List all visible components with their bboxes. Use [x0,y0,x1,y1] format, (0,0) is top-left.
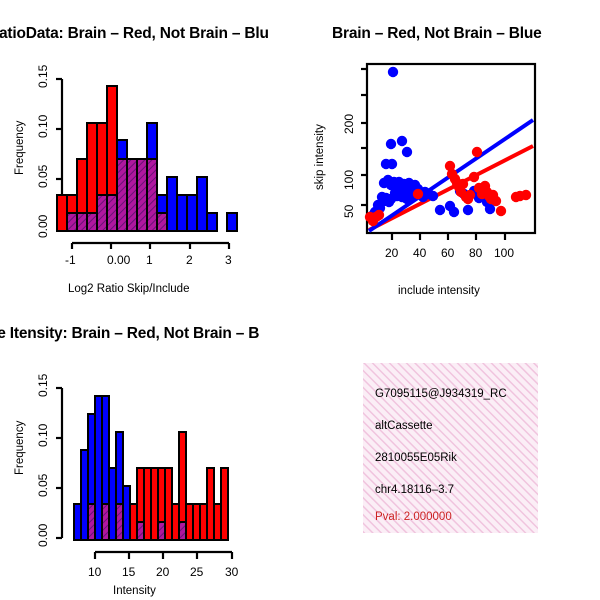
ratio-xtick-0: -1 [65,253,76,267]
ratio-xtick-4: 3 [225,253,232,267]
intensity-xtick-15: 15 [122,565,135,579]
scatter-xtick-20: 20 [385,246,398,260]
ratio-ytick-3: 0.15 [36,65,50,88]
ratio-xtick-1: 0.00 [107,253,130,267]
plot-page: RatioData: Brain – Red, Not Brain – Blu … [0,0,600,600]
intensity-histogram-canvas [0,300,300,600]
intensity-y-axis [56,388,62,538]
scatter-y-label: skip intensity [314,124,326,190]
info-box: G7095115@J934319_RC altCassette 2810055E… [363,363,538,533]
scatter-points-blue [367,67,495,221]
scatter-xtick-40: 40 [413,246,426,260]
info-line-locus: chr4.18116–3.7 [375,484,454,496]
intensity-histogram-y-label: Frequency [14,421,26,475]
scatter-xtick-80: 80 [469,246,482,260]
ratio-ytick-2: 0.10 [36,115,50,138]
ratio-ytick-1: 0.05 [36,165,50,188]
scatter-ytick-50: 50 [342,205,356,218]
intensity-ytick-0: 0.00 [36,524,50,547]
panel-ratio-histogram: RatioData: Brain – Red, Not Brain – Blu … [0,0,300,300]
scatter-x-label: include intensity [398,285,480,297]
ratio-histogram-title: RatioData: Brain – Red, Not Brain – Blu [0,25,269,43]
scatter-xtick-100: 100 [494,246,514,260]
intensity-ytick-1: 0.05 [36,474,50,497]
intensity-xtick-30: 30 [225,565,238,579]
info-line-pval: Pval: 2.000000 [375,511,452,523]
intensity-histogram-x-label: Intensity [113,585,156,597]
intensity-xtick-10: 10 [88,565,101,579]
info-line-gene: 2810055E05Rik [375,452,457,464]
intensity-x-axis [95,552,232,559]
ratio-histogram-y-label: Frequency [14,121,26,175]
info-line-probe: G7095115@J934319_RC [375,388,507,400]
ratio-ytick-0: 0.00 [36,215,50,238]
intensity-ytick-2: 0.10 [36,424,50,447]
intensity-histogram-title: ne Itensity: Brain – Red, Not Brain – B [0,325,259,343]
ratio-x-axis [72,243,229,249]
intensity-xtick-20: 20 [156,565,169,579]
ratio-xtick-2: 1 [146,253,153,267]
panel-info: G7095115@J934319_RC altCassette 2810055E… [300,300,600,600]
panel-scatter: Brain – Red, Not Brain – Blue skip inten… [300,0,600,300]
ratio-xtick-3: 2 [186,253,193,267]
scatter-ytick-200: 200 [342,114,356,134]
panel-intensity-histogram: ne Itensity: Brain – Red, Not Brain – B … [0,300,300,600]
intensity-xtick-25: 25 [190,565,203,579]
scatter-xtick-60: 60 [441,246,454,260]
ratio-histogram-x-label: Log2 Ratio Skip/Include [68,283,189,295]
intensity-ytick-3: 0.15 [36,374,50,397]
scatter-ytick-100: 100 [342,170,356,190]
info-line-event-type: altCassette [375,420,433,432]
scatter-title: Brain – Red, Not Brain – Blue [332,25,542,43]
